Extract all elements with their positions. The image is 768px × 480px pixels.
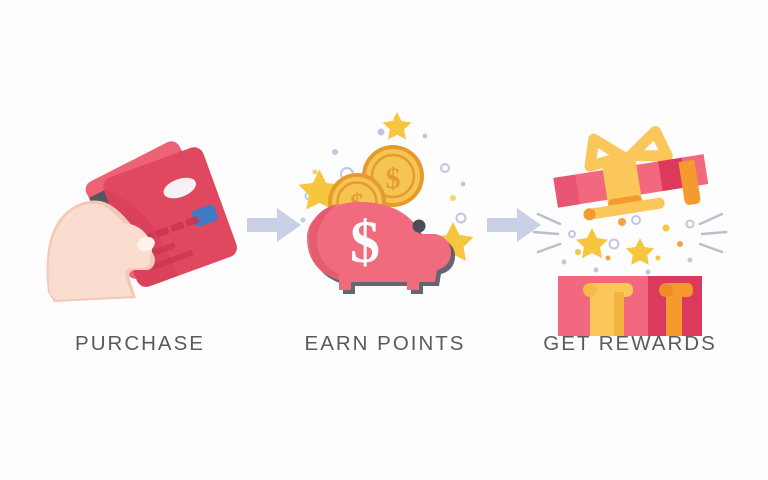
step-label-get-rewards: GET REWARDS xyxy=(530,332,730,356)
burst-rays-left xyxy=(534,214,560,252)
svg-text:$: $ xyxy=(386,162,401,195)
open-gift-box-icon xyxy=(530,110,730,310)
step-earn-points: $ $ xyxy=(285,110,485,360)
step-label-purchase: PURCHASE xyxy=(40,332,240,356)
step-purchase: PURCHASE xyxy=(40,110,240,360)
step-label-earn-points: EARN POINTS xyxy=(285,332,485,356)
gift-lid xyxy=(548,123,711,226)
confetti-stars xyxy=(576,228,654,265)
svg-text:$: $ xyxy=(350,209,380,275)
confetti-dots xyxy=(562,216,694,275)
piggy-bank-with-coins-icon: $ $ xyxy=(285,110,485,310)
star-top-center xyxy=(383,112,412,140)
infographic-canvas: PURCHASE xyxy=(0,0,768,480)
burst-rays-right xyxy=(700,214,726,252)
hand-holding-credit-cards-icon xyxy=(40,110,240,310)
step-get-rewards: GET REWARDS xyxy=(530,110,730,360)
gift-box-base xyxy=(558,276,702,336)
